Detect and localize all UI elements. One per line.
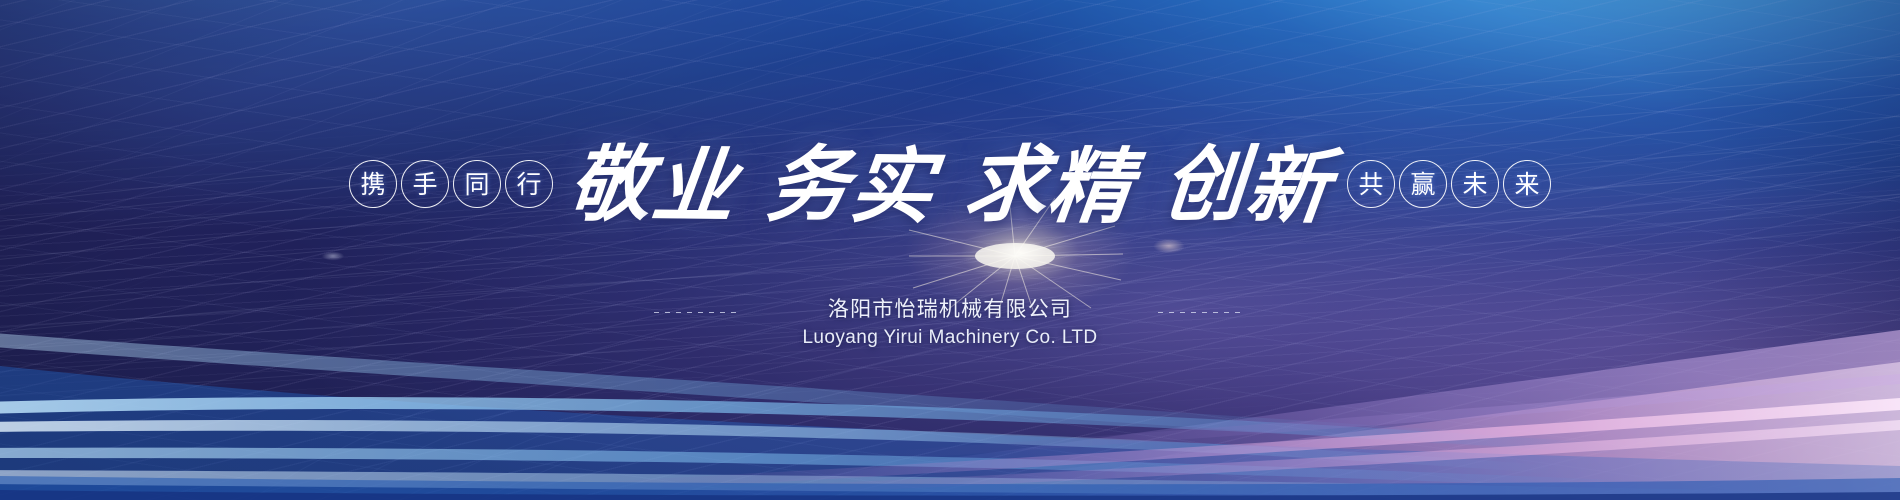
- circled-char-text: 行: [516, 172, 541, 197]
- circled-char-tong: 同: [453, 160, 501, 208]
- slogan-right-circled-group: 共 赢 未 来: [1347, 160, 1551, 208]
- hero-banner: 携 手 同 行 敬业 务实 求精 创新 共 赢 未 来 洛阳市怡瑞机械有限公司: [0, 0, 1900, 500]
- slogan-word-chuangxin: 创新: [1159, 141, 1334, 227]
- company-name-block: 洛阳市怡瑞机械有限公司 Luoyang Yirui Machinery Co. …: [0, 294, 1900, 352]
- company-name-en: Luoyang Yirui Machinery Co. LTD: [802, 324, 1097, 352]
- circled-char-text: 携: [360, 172, 385, 197]
- circled-char-xing: 行: [505, 160, 553, 208]
- circled-char-gong: 共: [1347, 160, 1395, 208]
- slogan-left-circled-group: 携 手 同 行: [349, 160, 553, 208]
- circled-char-text: 手: [412, 172, 437, 197]
- slogan-word-qiujing: 求精: [961, 141, 1136, 227]
- circled-char-lai: 来: [1503, 160, 1551, 208]
- banner-content: 携 手 同 行 敬业 务实 求精 创新 共 赢 未 来 洛阳市怡瑞机械有限公司: [0, 0, 1900, 500]
- circled-char-xie: 携: [349, 160, 397, 208]
- company-text: 洛阳市怡瑞机械有限公司 Luoyang Yirui Machinery Co. …: [802, 294, 1097, 352]
- circled-char-wei: 未: [1451, 160, 1499, 208]
- slogan-row: 携 手 同 行 敬业 务实 求精 创新 共 赢 未 来: [0, 144, 1900, 224]
- slogan-word-jingye: 敬业: [565, 141, 740, 227]
- divider-dashed-left: [654, 312, 742, 313]
- circled-char-text: 同: [464, 172, 489, 197]
- circled-char-text: 未: [1462, 172, 1487, 197]
- circled-char-text: 来: [1514, 172, 1539, 197]
- circled-char-shou: 手: [401, 160, 449, 208]
- circled-char-ying: 赢: [1399, 160, 1447, 208]
- slogan-word-wushi: 务实: [763, 141, 938, 227]
- slogan-main-calligraphy: 敬业 务实 求精 创新: [569, 143, 1331, 225]
- circled-char-text: 赢: [1410, 172, 1435, 197]
- company-name-cn: 洛阳市怡瑞机械有限公司: [802, 294, 1097, 324]
- divider-dashed-right: [1158, 312, 1246, 313]
- circled-char-text: 共: [1358, 172, 1383, 197]
